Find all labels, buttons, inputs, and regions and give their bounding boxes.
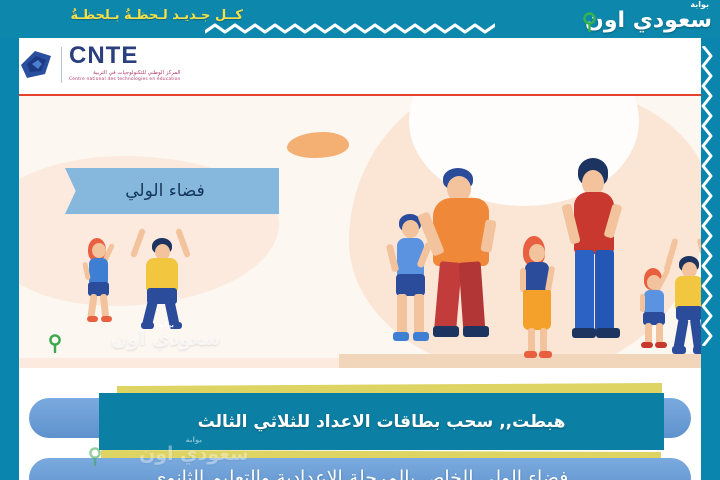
cnte-logo-text: CNTE المركز الوطني للتكنولوجيات في الترب…	[69, 44, 181, 82]
illustration-parent-father	[425, 168, 501, 366]
page-root: كــل جـديـد لـحظـةُ بـلحظـةُ بوابة سعودي…	[0, 0, 720, 480]
ribbon-banner: فضاء الولي	[65, 168, 279, 214]
header-tagline: كــل جـديـد لـحظـةُ بـلحظـةُ	[71, 8, 243, 23]
parent-space-secondary-label: فضاء الولي الخاص بالمرحلة الإعدادية والت…	[29, 458, 691, 480]
hero-illustration: فضاء الولي	[19, 96, 701, 368]
magnifier-icon	[583, 12, 597, 32]
logo-divider	[61, 47, 62, 83]
caption-accent-bar-bottom	[101, 450, 661, 458]
cnte-diamond-logo-icon	[21, 48, 55, 82]
brand-title: سعودي اون	[585, 10, 712, 32]
site-brand-logo[interactable]: بوابة سعودي اون	[585, 1, 712, 32]
ground-line-left	[19, 358, 349, 368]
content-card: CNTE المركز الوطني للتكنولوجيات في الترب…	[19, 38, 701, 480]
illustration-child-boy-yellow	[667, 238, 701, 368]
ribbon-label: فضاء الولي	[65, 168, 279, 214]
parent-space-secondary-button[interactable]: فضاء الولي الخاص بالمرحلة الإعدادية والت…	[29, 458, 691, 480]
watermark-title: سعودي اون	[111, 329, 221, 349]
caption-banner: هبطت,, سحب بطاقات الاعداد للثلاثي الثالث	[99, 393, 664, 450]
site-header: كــل جـديـد لـحظـةُ بـلحظـةُ بوابة سعودي…	[0, 0, 720, 38]
magnifier-icon	[49, 334, 62, 353]
zigzag-wave-divider-icon	[205, 22, 495, 36]
illustration-child-boy-left	[131, 224, 193, 332]
illustration-parent-mother	[564, 158, 626, 368]
cnte-french-subtitle: Centre national des technologies en éduc…	[69, 77, 181, 82]
caption-text: هبطت,, سحب بطاقات الاعداد للثلاثي الثالث	[198, 412, 566, 432]
zigzag-wave-edge-icon	[700, 46, 714, 346]
illustration-child-girl-left	[77, 238, 123, 326]
cnte-acronym: CNTE	[69, 44, 181, 68]
cnte-logo-strip: CNTE المركز الوطني للتكنولوجيات في الترب…	[19, 38, 701, 96]
background-blob-orange	[287, 132, 349, 158]
cnte-arabic-subtitle: المركز الوطني للتكنولوجيات في التربية	[69, 70, 181, 76]
illustration-child-girl-orange	[519, 236, 563, 366]
